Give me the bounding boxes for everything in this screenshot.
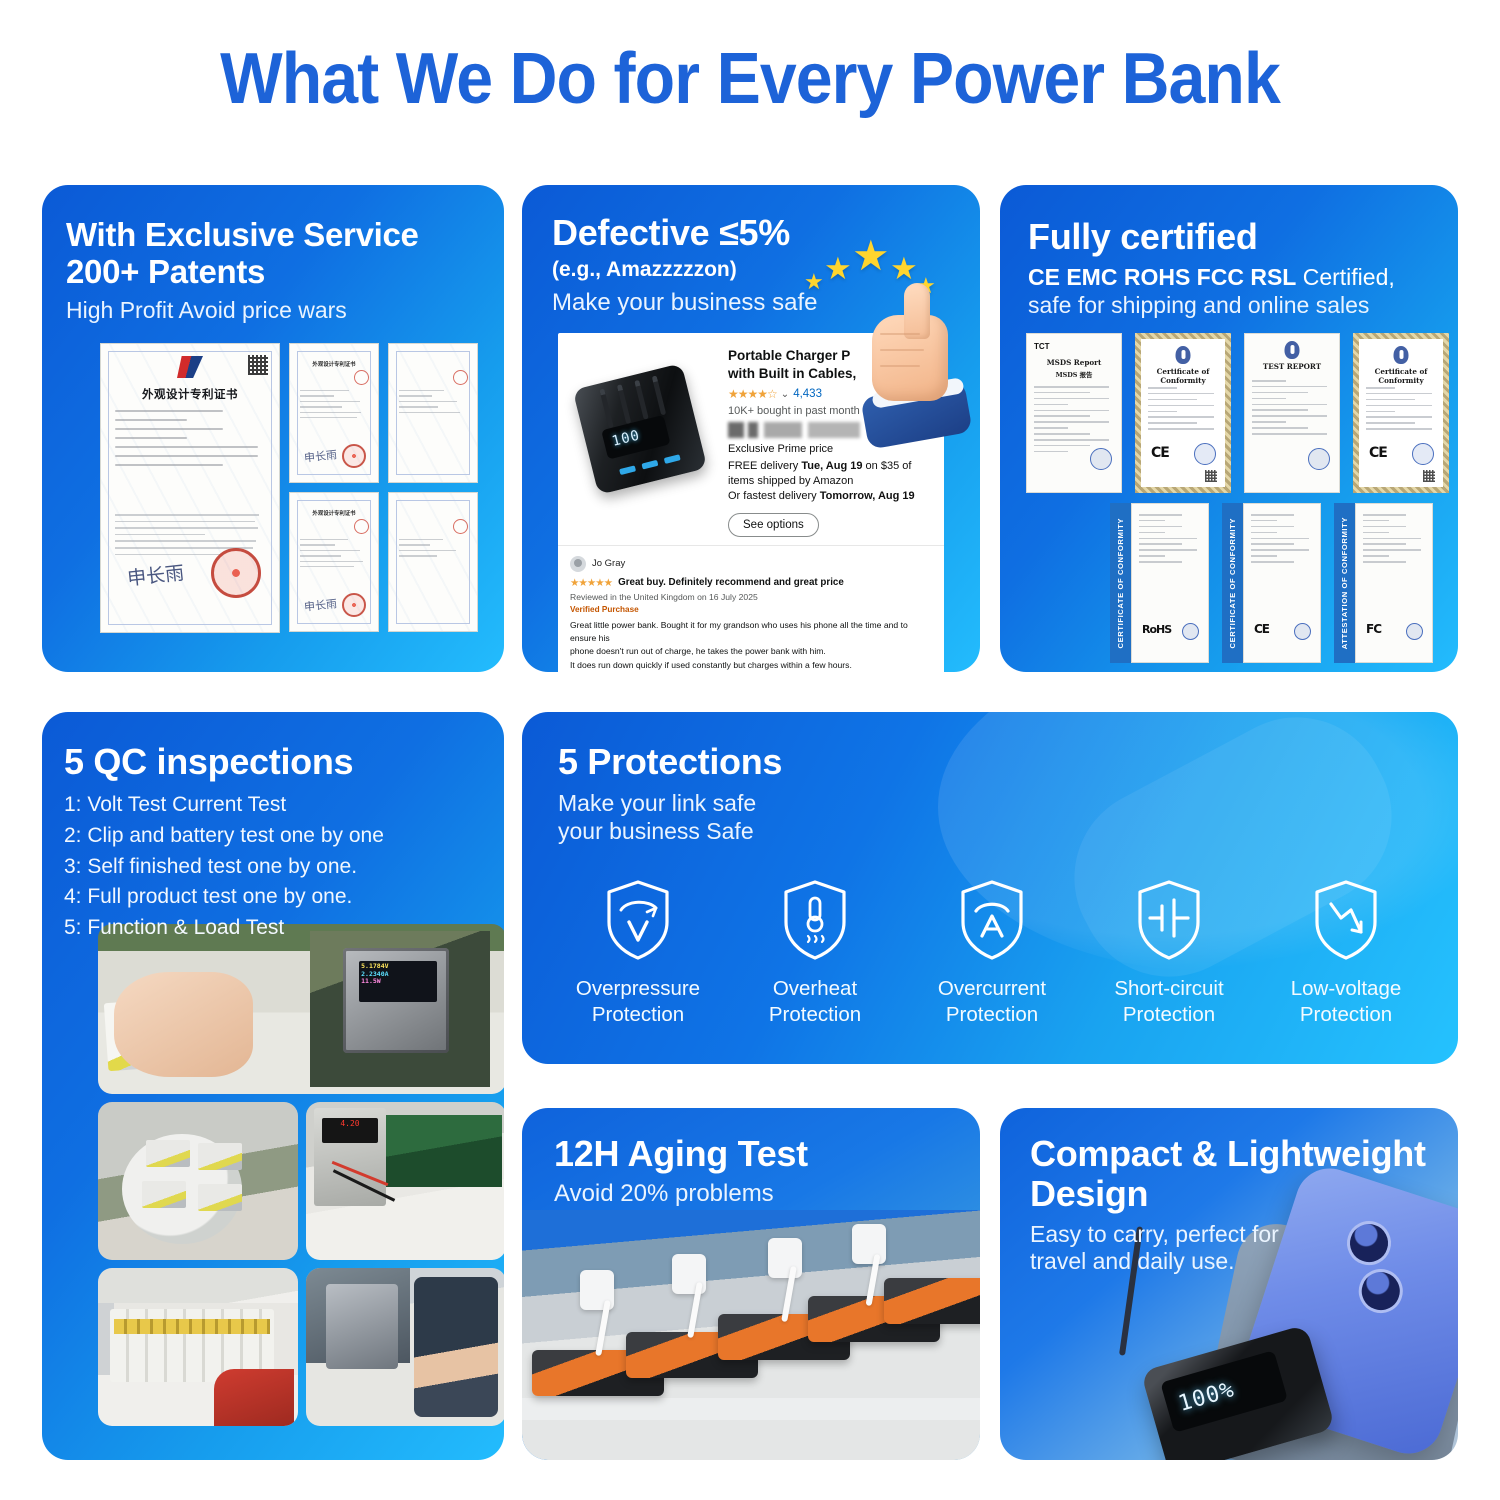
patent-fields	[115, 410, 265, 473]
band-label: CERTIFICATE OF CONFORMITY	[1228, 518, 1237, 648]
patents-title-line1: With Exclusive Service	[66, 217, 504, 254]
listing-delivery: FREE delivery Tue, Aug 19 on $35 of item…	[728, 459, 934, 504]
certificate-subtitle: MSDS 报告	[1027, 370, 1121, 379]
aging-header: 12H Aging Test Avoid 20% problems	[522, 1108, 980, 1209]
usb-ports-icon	[619, 454, 681, 475]
official-seal-icon	[342, 444, 366, 468]
delivery-free-prefix: FREE delivery	[728, 460, 801, 472]
ce-mark-icon: CE	[1151, 445, 1169, 461]
qc-list-item: 3: Self finished test one by one.	[64, 852, 504, 883]
card-grid: With Exclusive Service 200+ Patents High…	[0, 0, 1500, 1500]
listing-prime-price: Exclusive Prime price	[728, 443, 934, 455]
protection-label-line2: Protection	[1262, 1002, 1430, 1028]
customer-review: Jo Gray ★★★★★ Great buy. Definitely reco…	[558, 545, 944, 672]
qr-code-icon	[1205, 470, 1217, 482]
card-compact-design[interactable]: 100% Compact & Lightweight Design Easy t…	[1000, 1108, 1458, 1460]
certified-standards: CE EMC ROHS FCC RSL	[1028, 264, 1296, 290]
compact-title-line1: Compact & Lightweight	[1030, 1134, 1458, 1174]
qc-photo-assembly-line	[98, 1268, 298, 1426]
protections-subtitle-line1: Make your link safe	[558, 790, 1458, 818]
protection-label-line2: Protection	[554, 1002, 722, 1028]
review-headline[interactable]: Great buy. Definitely recommend and grea…	[618, 577, 844, 588]
certified-title: Fully certified	[1028, 217, 1458, 257]
certification-stamp-icon	[1412, 443, 1434, 465]
protection-label-line1: Overpressure	[554, 976, 722, 1002]
protection-overpressure[interactable]: Overpressure Protection	[554, 878, 722, 1028]
qc-photo-power-supply: 4.20	[306, 1102, 504, 1260]
protection-overcurrent[interactable]: Overcurrent Protection	[908, 878, 1076, 1028]
review-user-name: Jo Gray	[592, 558, 625, 569]
certificate-band: CERTIFICATE OF CONFORMITY	[1222, 503, 1243, 663]
protection-label-line1: Overcurrent	[908, 976, 1076, 1002]
certification-stamp-icon	[1294, 623, 1311, 640]
patents-title-line2: 200+ Patents	[66, 254, 504, 291]
certificates-top-row: TCT MSDS Report MSDS 报告 Certificate of C…	[1026, 333, 1449, 493]
qc-list-item: 1: Volt Test Current Test	[64, 790, 504, 821]
compact-subtitle-line2: travel and daily use.	[1030, 1248, 1458, 1276]
low-voltage-shield-icon	[1311, 878, 1381, 962]
certificate-msds: TCT MSDS Report MSDS 报告	[1026, 333, 1122, 493]
lab-brand: TCT	[1034, 342, 1050, 351]
patents-subtitle: High Profit Avoid price wars	[66, 297, 504, 325]
psu-display: 4.20	[322, 1118, 378, 1143]
protection-short-circuit[interactable]: Short-circuit Protection	[1085, 878, 1253, 1028]
infographic-page: What We Do for Every Power Bank With Exc…	[0, 0, 1500, 120]
fastest-date: Tomorrow, Aug 19	[820, 490, 915, 502]
qr-code-icon	[248, 355, 268, 375]
emblem-icon	[1285, 341, 1300, 359]
gauge-voltage-shield-icon	[603, 878, 673, 962]
delivery-date: Tue, Aug 19	[801, 460, 862, 472]
official-seal-icon	[211, 548, 261, 598]
certified-subtitle-line2: safe for shipping and online sales	[1028, 292, 1369, 318]
ampere-shield-icon	[957, 878, 1027, 962]
compact-subtitle-line1: Easy to carry, perfect for	[1030, 1221, 1458, 1249]
patent-row-bottom: 外观设计专利证书 申长雨	[289, 492, 478, 632]
card-exclusive-service-patents[interactable]: With Exclusive Service 200+ Patents High…	[42, 185, 504, 672]
protections-header: 5 Protections Make your link safe your b…	[522, 712, 1458, 846]
patent-small-signature: 申长雨	[303, 446, 337, 465]
listing-price-blurred	[728, 422, 878, 438]
certificate-ce: CERTIFICATE OF CONFORMITY CE	[1222, 503, 1321, 663]
seal-ring-icon	[354, 370, 369, 385]
certificate-test-report: TEST REPORT	[1244, 333, 1340, 493]
usb-meter-display: 5.1784V 2.2340A 11.5W	[359, 961, 437, 1002]
fcc-mark-icon: FC	[1366, 622, 1381, 636]
certificate-conformity: Certificate of Conformity CE	[1353, 333, 1449, 493]
protection-label-line2: Protection	[731, 1002, 899, 1028]
thermometer-shield-icon	[780, 878, 850, 962]
review-body: Great little power bank. Bought it for m…	[570, 619, 932, 672]
patent-certificates: 外观设计专利证书 申长雨	[100, 343, 478, 633]
patent-certificate-small	[388, 492, 478, 632]
band-label: CERTIFICATE OF CONFORMITY	[1116, 518, 1125, 648]
ce-mark-icon: CE	[1254, 622, 1269, 636]
worker-uniform	[214, 1369, 294, 1426]
certificate-body: CE	[1243, 503, 1321, 663]
patent-small-title: 外观设计专利证书	[290, 509, 378, 517]
qc-photo-spot-welder	[98, 1102, 298, 1260]
qc-list-item: 5: Function & Load Test	[64, 913, 504, 944]
card-aging-test[interactable]: 12H Aging Test Avoid 20% problems	[522, 1108, 980, 1460]
seal-ring-icon	[453, 370, 468, 385]
review-body-line2: phone doesn't run out of charge, he take…	[570, 646, 826, 656]
certified-header: Fully certified CE EMC ROHS FCC RSL Cert…	[1000, 185, 1458, 319]
aging-test-photo	[522, 1210, 980, 1460]
card-defective-rate[interactable]: Defective ≤5% (e.g., Amazzzzzon) Make yo…	[522, 185, 980, 672]
see-options-button[interactable]: See options	[728, 513, 819, 537]
protections-subtitle-line2: your business Safe	[558, 818, 1458, 846]
compact-header: Compact & Lightweight Design Easy to car…	[1000, 1108, 1458, 1276]
seal-ring-icon	[354, 519, 369, 534]
card-five-protections[interactable]: 5 Protections Make your link safe your b…	[522, 712, 1458, 1064]
verified-purchase-badge: Verified Purchase	[570, 605, 932, 614]
meter-power: 11.5W	[361, 978, 435, 985]
certificate-title: Certificate of Conformity	[1141, 367, 1225, 385]
review-body-line3: It does run down quickly if used constan…	[570, 660, 852, 670]
certification-stamp-icon	[1406, 623, 1423, 640]
qc-photo-gallery: 5.1784V 2.2340A 11.5W 4.20	[98, 924, 504, 1426]
card-qc-inspections[interactable]: 5 QC inspections 1: Volt Test Current Te…	[42, 712, 504, 1460]
power-bank-body: 100	[573, 363, 708, 495]
ce-mark-icon: CE	[1369, 445, 1387, 461]
aging-subtitle: Avoid 20% problems	[554, 1180, 980, 1209]
protection-label-line1: Overheat	[731, 976, 899, 1002]
worker	[414, 1277, 498, 1416]
card-fully-certified[interactable]: Fully certified CE EMC ROHS FCC RSL Cert…	[1000, 185, 1458, 672]
emblem-icon	[1394, 346, 1409, 364]
certificate-conformity: Certificate of Conformity CE	[1135, 333, 1231, 493]
patent-certificate-title: 外观设计专利证书	[101, 386, 279, 402]
rating-count[interactable]: 4,433	[793, 388, 822, 400]
qr-code-icon	[1423, 470, 1435, 482]
certification-stamp-icon	[1308, 448, 1330, 470]
patent-row-top: 外观设计专利证书 申长雨	[289, 343, 478, 483]
certificates-bottom-row: CERTIFICATE OF CONFORMITY RoHS CERTIFICA…	[1026, 503, 1433, 663]
certificate-fcc: ATTESTATION OF CONFORMITY FC	[1334, 503, 1433, 663]
protection-low-voltage[interactable]: Low-voltage Protection	[1262, 878, 1430, 1028]
fastest-prefix: Or fastest delivery	[728, 490, 820, 502]
gold-contacts	[114, 1319, 270, 1335]
display-value: 100	[610, 427, 641, 449]
emblem-icon	[1176, 346, 1191, 364]
protection-label-line2: Protection	[1085, 1002, 1253, 1028]
delivery-threshold: on $35 of	[862, 460, 911, 472]
protections-title: 5 Protections	[558, 742, 1458, 782]
patents-header: With Exclusive Service 200+ Patents High…	[42, 185, 504, 325]
patent-certificate-small: 外观设计专利证书 申长雨	[289, 492, 379, 632]
certificate-band: ATTESTATION OF CONFORMITY	[1334, 503, 1355, 663]
qc-photo-row: 4.20	[98, 1102, 504, 1260]
qc-header: 5 QC inspections 1: Volt Test Current Te…	[42, 712, 504, 944]
seal-ring-icon	[453, 519, 468, 534]
product-image: 100	[568, 345, 718, 495]
worker-hand	[114, 972, 253, 1077]
protection-overheat[interactable]: Overheat Protection	[731, 878, 899, 1028]
certified-suffix: Certified,	[1296, 264, 1394, 290]
avatar	[570, 556, 586, 572]
qc-photo-machine-operator	[306, 1268, 504, 1426]
qc-photo-row	[98, 1268, 504, 1426]
short-circuit-shield-icon	[1134, 878, 1204, 962]
certificate-rohs: CERTIFICATE OF CONFORMITY RoHS	[1110, 503, 1209, 663]
certificate-title: TEST REPORT	[1245, 362, 1339, 371]
review-meta: Reviewed in the United Kingdom on 16 Jul…	[570, 592, 932, 602]
qc-title: 5 QC inspections	[64, 742, 504, 782]
patent-side-column: 外观设计专利证书 申长雨	[289, 343, 478, 633]
official-seal-icon	[342, 593, 366, 617]
review-headline-row: ★★★★★ Great buy. Definitely recommend an…	[570, 577, 932, 589]
rohs-mark-icon: RoHS	[1142, 623, 1171, 636]
chevron-down-icon[interactable]: ⌄	[781, 389, 789, 400]
thumbs-up-icon	[858, 281, 976, 431]
defective-example: (e.g., Amazzzzzon)	[552, 257, 980, 282]
protection-label-line1: Low-voltage	[1262, 976, 1430, 1002]
qc-list: 1: Volt Test Current Test 2: Clip and ba…	[64, 790, 504, 943]
defective-title: Defective ≤5%	[552, 213, 980, 253]
aging-title: 12H Aging Test	[554, 1134, 980, 1174]
certification-stamp-icon	[1194, 443, 1216, 465]
qc-list-item: 2: Clip and battery test one by one	[64, 821, 504, 852]
lab-stamp-icon	[1090, 448, 1112, 470]
rating-stars-icon: ★★★★☆	[728, 387, 777, 401]
certificate-body: FC	[1355, 503, 1433, 663]
band-label: ATTESTATION OF CONFORMITY	[1340, 517, 1349, 649]
review-user: Jo Gray	[570, 556, 932, 572]
protections-list: Overpressure Protection Overheat Protect…	[554, 878, 1430, 1028]
protection-label-line2: Protection	[908, 1002, 1076, 1028]
qc-list-item: 4: Full product test one by one.	[64, 882, 504, 913]
certificate-band: CERTIFICATE OF CONFORMITY	[1110, 503, 1131, 663]
review-body-line1: Great little power bank. Bought it for m…	[570, 620, 908, 643]
protection-label-line1: Short-circuit	[1085, 976, 1253, 1002]
patent-certificate-small: 外观设计专利证书 申长雨	[289, 343, 379, 483]
certificate-title: MSDS Report	[1027, 358, 1121, 367]
qc-photo-volt-test: 5.1784V 2.2340A 11.5W	[98, 924, 504, 1094]
press-machine	[326, 1284, 398, 1369]
patent-small-signature: 申长雨	[303, 595, 337, 614]
compact-title-line2: Design	[1030, 1174, 1458, 1214]
certification-stamp-icon	[1182, 623, 1199, 640]
review-stars-icon: ★★★★★	[570, 577, 612, 589]
patent-certificate-main: 外观设计专利证书 申长雨	[100, 343, 280, 633]
patent-certificate-small	[388, 343, 478, 483]
patent-main-column: 外观设计专利证书 申长雨	[100, 343, 280, 633]
certificate-title: Certificate of Conformity	[1359, 367, 1443, 385]
delivery-shipper: items shipped by Amazon	[728, 475, 853, 487]
certified-subtitle: CE EMC ROHS FCC RSL Certified, safe for …	[1028, 263, 1458, 319]
patent-small-title: 外观设计专利证书	[290, 360, 378, 368]
certificate-body: RoHS	[1131, 503, 1209, 663]
